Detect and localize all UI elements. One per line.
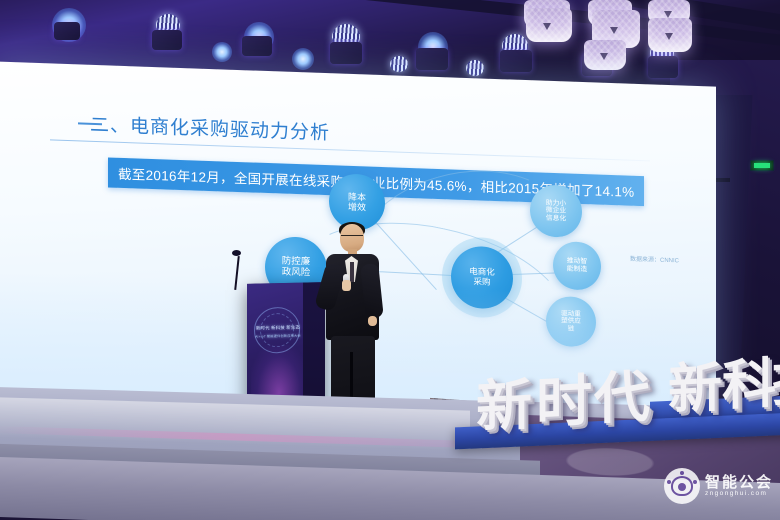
podium-headline: 新时代 新科技 新生态: [253, 325, 303, 332]
diagram-node-sme[interactable]: 助力小 微企业 信息化: [530, 184, 582, 238]
watermark-en: zngonghui.com: [705, 490, 773, 497]
speaker-hand-holding-mic: [342, 280, 351, 291]
stage-light-grille: [466, 60, 484, 76]
stage-light-fixture: [54, 22, 80, 40]
conference-stage-photo: 二、电商化采购驱动力分析 截至2016年12月，全国开展在线采购的企业比例为45…: [0, 0, 780, 520]
stage-light-fixture: [416, 48, 448, 70]
stage-light-fixture: [648, 56, 678, 78]
stage-light-glow: [212, 42, 232, 62]
speaker-right-hand: [368, 316, 377, 326]
stage-light-grille: [390, 56, 408, 72]
diagram-node-smart[interactable]: 推动智 能制造: [553, 241, 601, 291]
watermark-text: 智能公会 zngonghui.com: [705, 475, 773, 498]
slide-title: 二、电商化采购驱动力分析: [90, 110, 330, 145]
stage-light-fixture: [242, 36, 272, 56]
podium-subline: AI+IoT 智能硬件创新应用大会: [253, 333, 303, 339]
node-cost-line2: 增效: [348, 202, 366, 213]
exit-sign: [750, 160, 774, 171]
node-smart-line2: 能制造: [567, 265, 587, 273]
stage-letter: 技: [772, 353, 780, 410]
stage-letter: 新: [668, 361, 722, 418]
stage-letter: 新: [476, 377, 532, 436]
watermark-cn: 智能公会: [705, 475, 773, 491]
chandelier: [526, 8, 572, 42]
stage-letter: 科: [722, 357, 776, 414]
node-sme-line3: 信息化: [546, 215, 566, 223]
stage-light-fixture: [152, 30, 182, 50]
watermark: 智能公会 zngonghui.com: [664, 462, 776, 510]
stage-light-glow: [292, 48, 314, 70]
stage-letter: 时: [536, 373, 592, 432]
stage-light-fixture: [330, 42, 362, 64]
speaker-tie: [350, 262, 354, 282]
chandelier: [584, 40, 626, 70]
node-risk-line2: 政风险: [282, 268, 311, 280]
brain-circle-logo-icon: [664, 468, 700, 504]
slide-source-note: 数据来源：CNNIC: [630, 254, 679, 265]
microphone-stand-head: [232, 250, 241, 256]
stage-letter: 代: [594, 369, 650, 428]
center-node-line2: 采购: [469, 277, 495, 287]
glasses-icon: [341, 235, 363, 241]
stage-light-fixture: [500, 50, 532, 72]
node-cost-line1: 降本: [348, 192, 366, 203]
chandelier: [648, 18, 692, 52]
